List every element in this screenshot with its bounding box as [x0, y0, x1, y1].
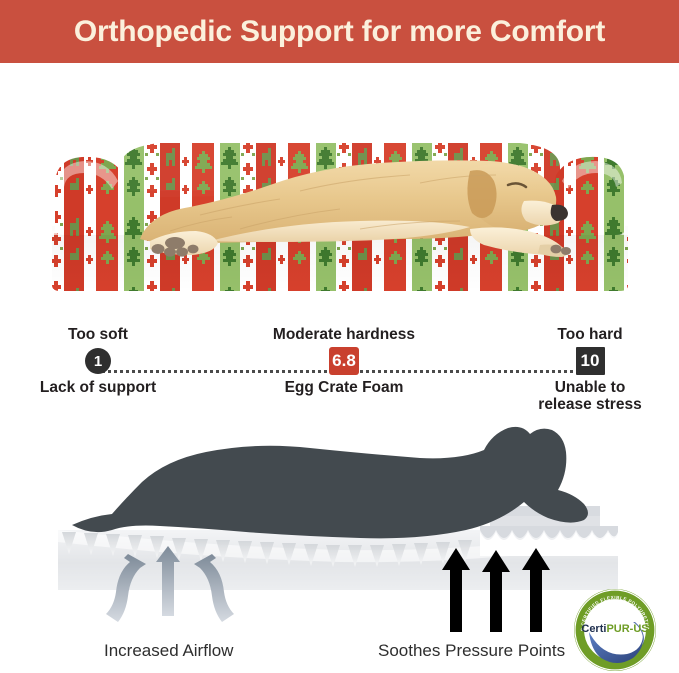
scale-stop-too-hard-sublabel-line1: Unable to [520, 379, 660, 396]
scale-marker-10: 10 [576, 347, 605, 375]
scale-stop-moderate-sublabel: Egg Crate Foam [259, 379, 429, 396]
header-banner: Orthopedic Support for more Comfort [0, 0, 679, 63]
product-photo [0, 63, 679, 313]
dog-on-bed-illustration [0, 63, 679, 313]
scale-stop-moderate: Moderate hardness 6.8 Egg Crate Foam [259, 326, 429, 396]
scale-stop-too-hard-sublabel-line2: release stress [520, 396, 660, 413]
svg-text:®: ® [649, 622, 652, 627]
logo-wordmark: CertiPUR-US [581, 623, 648, 635]
scale-stop-too-soft-marker-row: 1 [18, 346, 178, 376]
scale-stop-too-hard-marker-row: 10 [520, 346, 660, 376]
scale-stop-too-hard-label: Too hard [520, 326, 660, 344]
scale-stop-too-soft-sublabel: Lack of support [18, 379, 178, 396]
certipur-logo-svg: CONTAINS CERTIFIED FLEXIBLE POLYURETHANE… [573, 588, 657, 672]
hardness-scale: Too soft 1 Lack of support Moderate hard… [0, 326, 679, 426]
egg-crate-peaks-right [480, 526, 618, 556]
pressure-arrows [442, 548, 550, 632]
page-title: Orthopedic Support for more Comfort [74, 15, 605, 49]
scale-stop-moderate-marker-row: 6.8 [259, 346, 429, 376]
increased-airflow-caption: Increased Airflow [104, 641, 233, 661]
scale-stop-too-soft-label: Too soft [18, 326, 178, 344]
scale-marker-1: 1 [85, 348, 111, 374]
soothes-pressure-points-caption: Soothes Pressure Points [378, 641, 565, 661]
scale-stop-moderate-label: Moderate hardness [259, 326, 429, 344]
scale-stop-too-hard: Too hard 10 Unable to release stress [520, 326, 660, 413]
scale-marker-6-8: 6.8 [329, 347, 359, 375]
scale-stop-too-soft: Too soft 1 Lack of support [18, 326, 178, 396]
certipur-us-logo: CONTAINS CERTIFIED FLEXIBLE POLYURETHANE… [573, 588, 657, 672]
